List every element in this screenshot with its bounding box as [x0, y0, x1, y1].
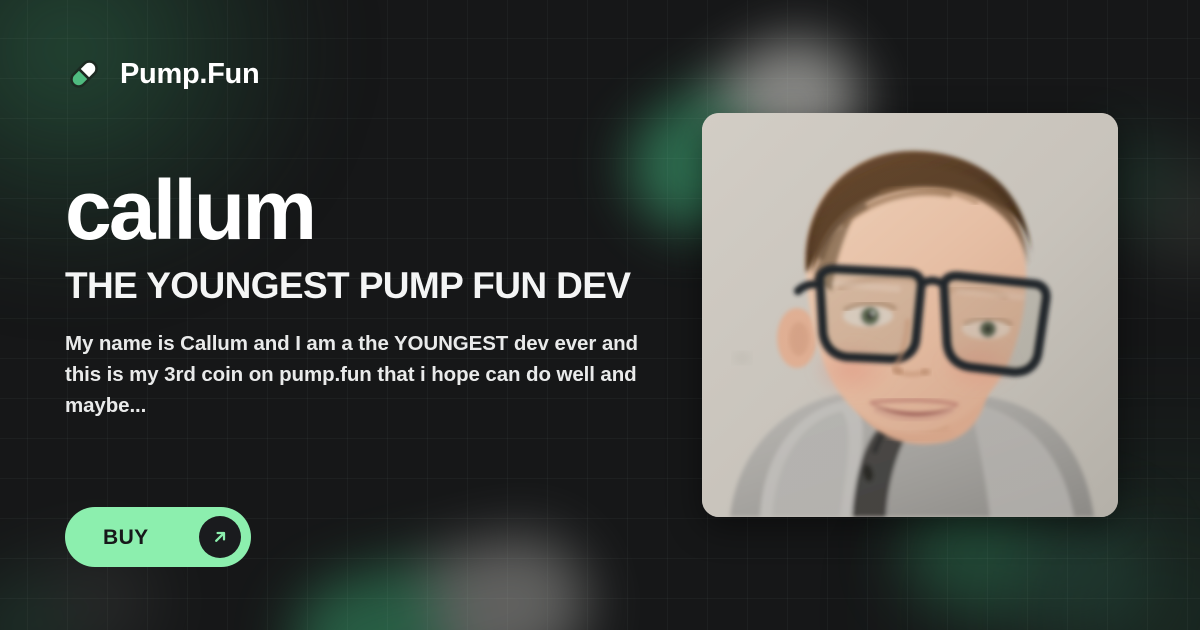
token-image-card [702, 113, 1118, 517]
page-title: callum [65, 172, 665, 249]
buy-button[interactable]: BUY [65, 507, 251, 567]
arrow-up-right-icon [199, 516, 241, 558]
brand-lockup[interactable]: Pump.Fun [65, 55, 259, 93]
brand-name: Pump.Fun [120, 60, 259, 89]
hero-section: callum THE YOUNGEST PUMP FUN DEV My name… [65, 172, 665, 422]
social-preview-card: Pump.Fun callum THE YOUNGEST PUMP FUN DE… [0, 0, 1200, 630]
portrait-photo [702, 113, 1118, 517]
hero-description: My name is Callum and I am a the YOUNGES… [65, 328, 655, 421]
pill-capsule-icon [65, 55, 103, 93]
buy-button-label: BUY [103, 527, 199, 548]
hero-subtitle: THE YOUNGEST PUMP FUN DEV [65, 265, 650, 308]
